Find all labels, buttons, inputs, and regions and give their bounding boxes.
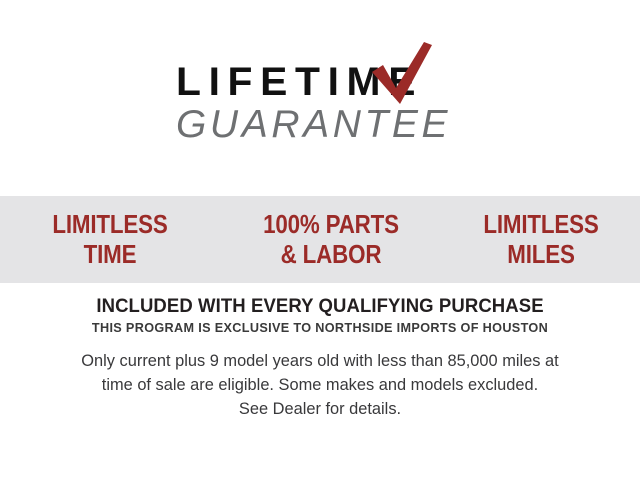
feature-limitless-miles: LIMITLESS MILES xyxy=(456,210,626,269)
feature-banner: LIMITLESS TIME 100% PARTS & LABOR LIMITL… xyxy=(0,196,640,283)
feature-line-2: MILES xyxy=(456,240,626,269)
included-block: INCLUDED WITH EVERY QUALIFYING PURCHASE … xyxy=(0,296,640,336)
logo-block: LIFETIME GUARANTEE xyxy=(0,42,640,157)
feature-limitless-time: LIMITLESS TIME xyxy=(15,210,204,269)
feature-line-2: TIME xyxy=(15,240,204,269)
lifetime-guarantee-ad: LIFETIME GUARANTEE LIMITLESS TIME 100% P… xyxy=(0,0,640,480)
logo-word-lifetime: LIFETIME xyxy=(176,62,470,102)
disclaimer-line-1: Only current plus 9 model years old with… xyxy=(36,350,604,374)
disclaimer-line-3: See Dealer for details. xyxy=(36,398,604,422)
feature-line-1: 100% PARTS xyxy=(236,210,427,239)
included-subheadline: THIS PROGRAM IS EXCLUSIVE TO NORTHSIDE I… xyxy=(13,321,627,336)
disclaimer-text: Only current plus 9 model years old with… xyxy=(36,350,604,421)
feature-line-1: LIMITLESS xyxy=(15,210,204,239)
logo-word-guarantee: GUARANTEE xyxy=(176,105,464,144)
logo-wordmark: LIFETIME GUARANTEE xyxy=(176,42,464,157)
feature-line-2: & LABOR xyxy=(236,240,427,269)
feature-line-1: LIMITLESS xyxy=(456,210,626,239)
included-headline: INCLUDED WITH EVERY QUALIFYING PURCHASE xyxy=(16,296,624,317)
feature-parts-and-labor: 100% PARTS & LABOR xyxy=(236,210,427,269)
disclaimer-line-2: time of sale are eligible. Some makes an… xyxy=(36,374,604,398)
